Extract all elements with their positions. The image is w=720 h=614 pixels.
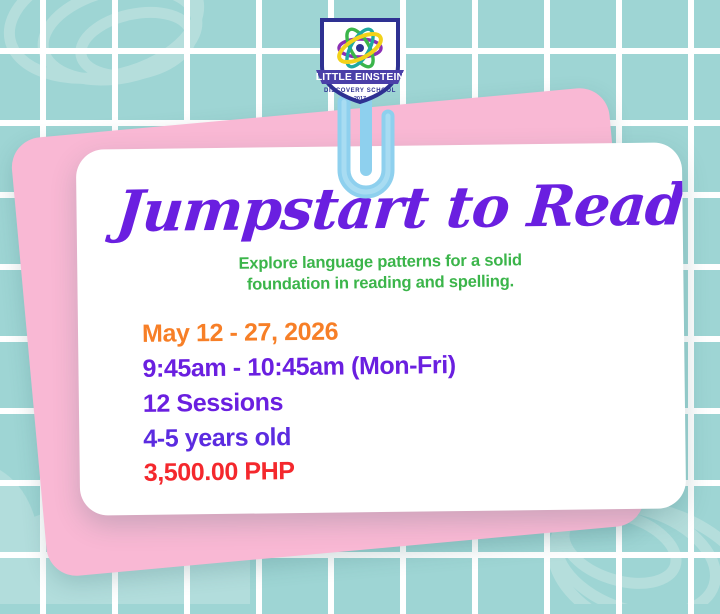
paperclip-icon [322, 96, 422, 202]
logo-year: 2017 [354, 96, 366, 102]
little-einstein-logo: LITTLE EINSTEIN DISCOVERY SCHOOL 2017 [312, 14, 408, 106]
subtitle: Explore language patterns for a solid fo… [117, 249, 643, 298]
logo-brand-line-1: LITTLE EINSTEIN [316, 71, 404, 83]
details-list: May 12 - 27, 2026 9:45am - 10:45am (Mon-… [118, 311, 646, 491]
logo-brand-line-2: DISCOVERY SCHOOL [324, 88, 396, 94]
detail-price: 3,500.00 PHP [144, 450, 646, 491]
